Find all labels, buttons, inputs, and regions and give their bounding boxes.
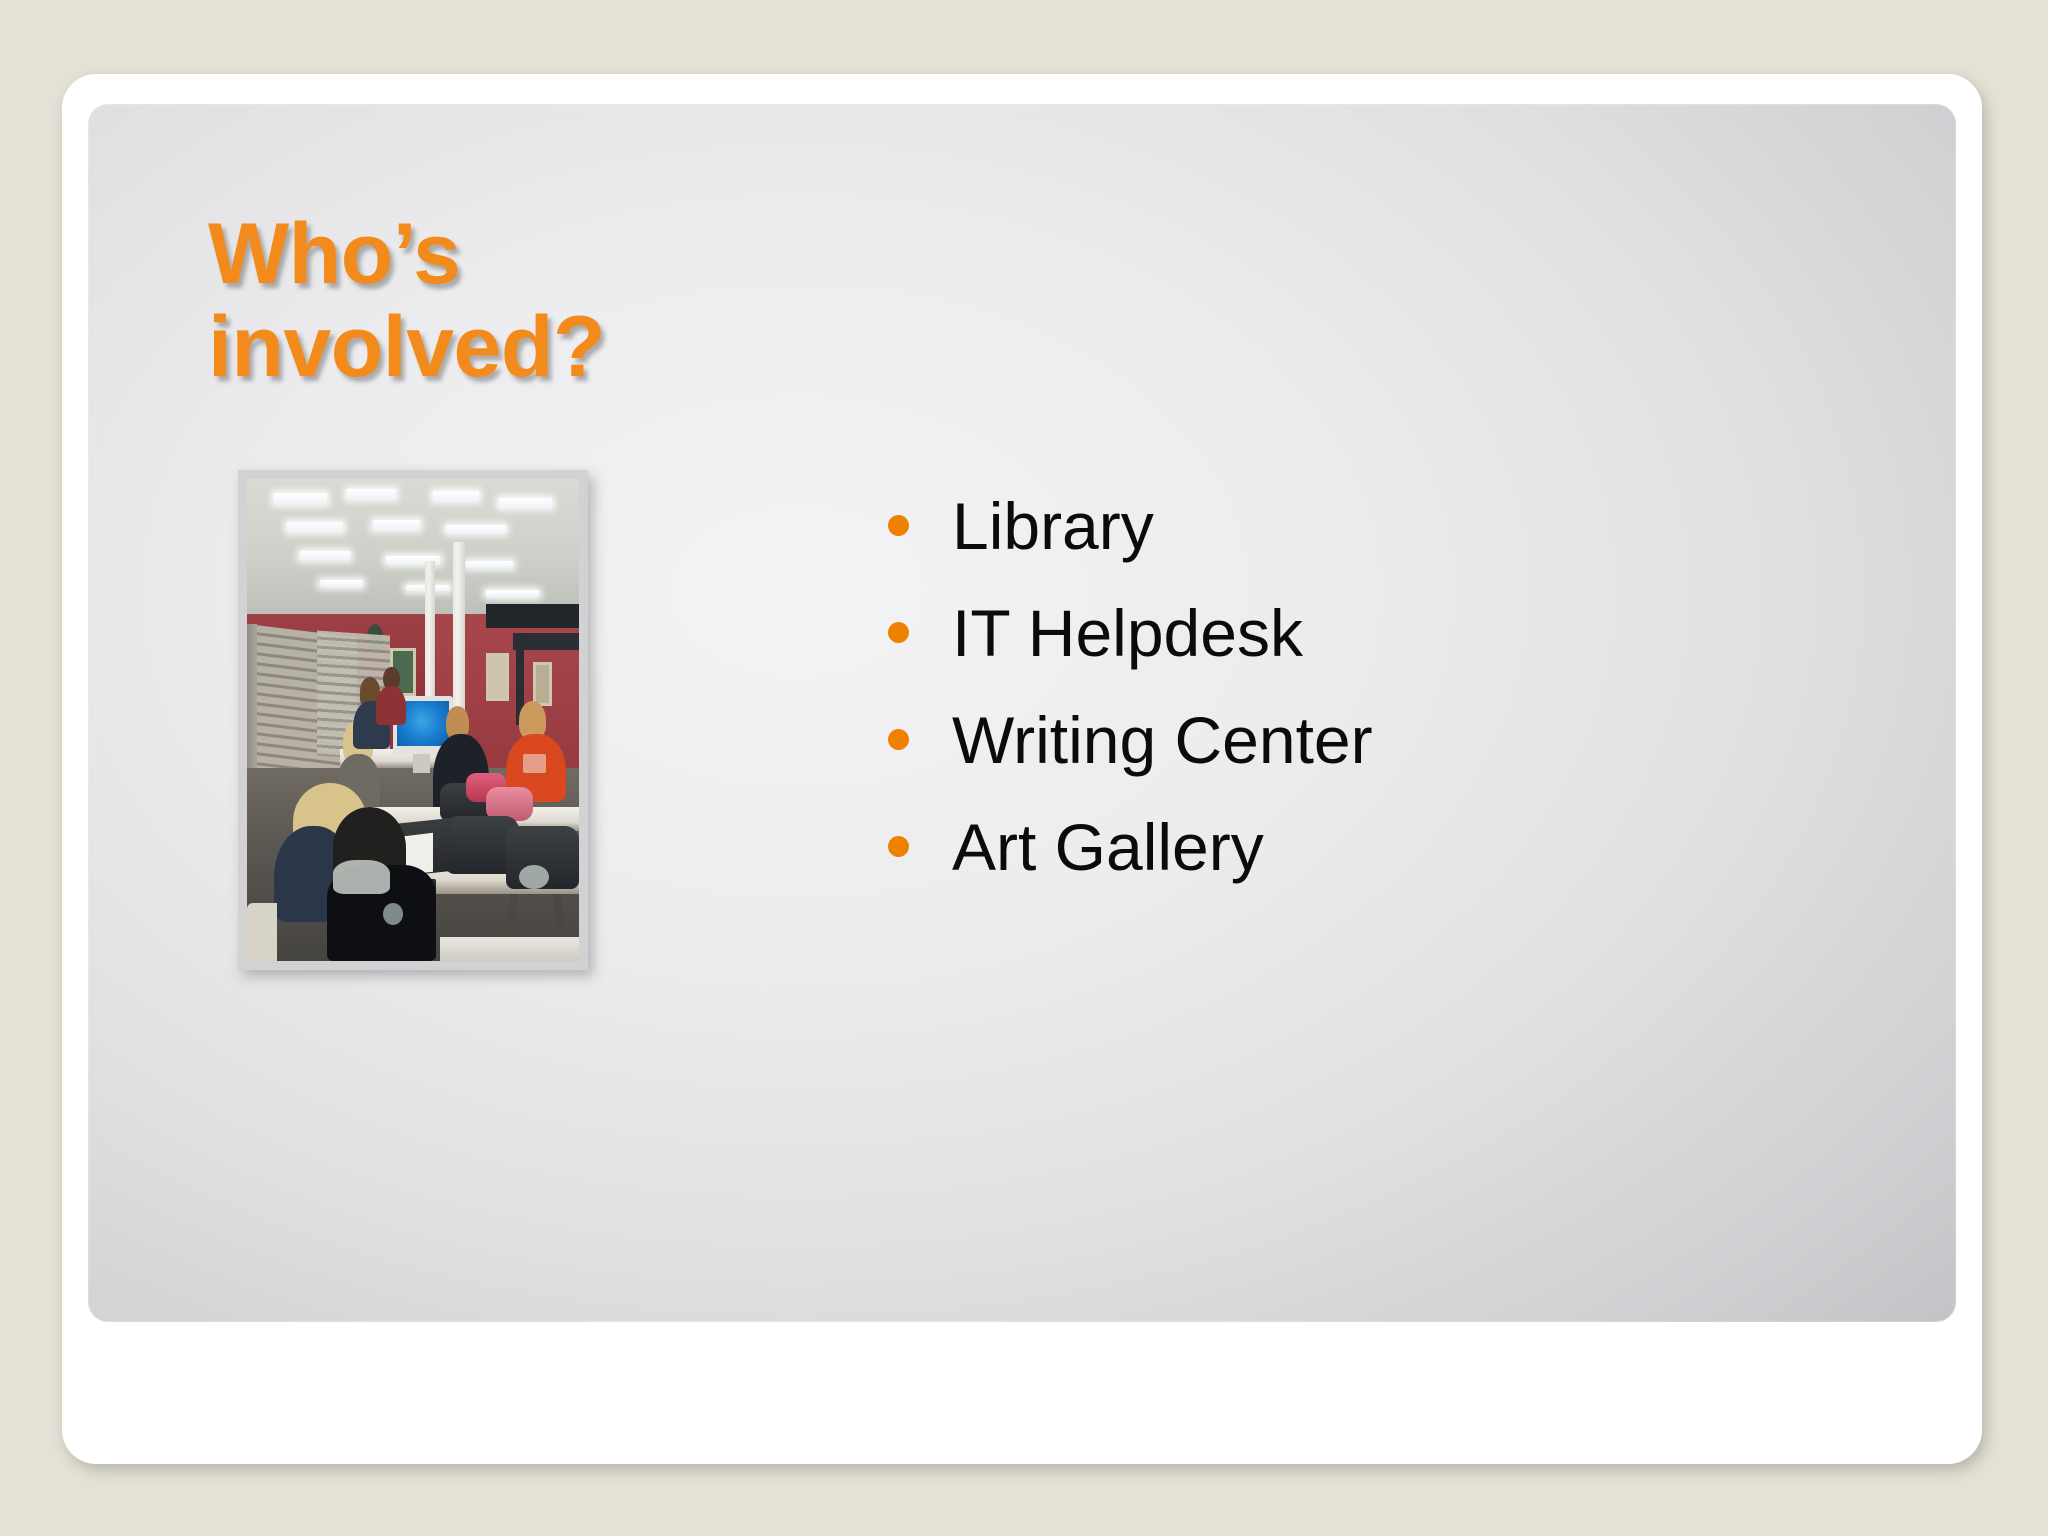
list-item[interactable]: Writing Center	[888, 686, 1848, 793]
photo-ceiling-light	[466, 561, 512, 568]
list-item-label: Writing Center	[952, 707, 1373, 773]
photo-person-scarf	[333, 860, 389, 894]
page-title: Who’s involved?	[208, 208, 828, 394]
bullet-dot-icon	[888, 622, 909, 643]
slide-content-panel: Who’s involved?	[88, 104, 1956, 1322]
bullet-dot-icon	[888, 515, 909, 536]
photo-ceiling-light	[433, 491, 479, 501]
list-item-label: Library	[952, 493, 1154, 559]
photo-bottle	[519, 865, 549, 889]
photo-shirt-graphic	[523, 754, 546, 773]
photo-ceiling-light	[446, 525, 506, 534]
photo-ceiling-light	[486, 590, 539, 597]
bullet-dot-icon	[888, 836, 909, 857]
photo-table	[440, 937, 579, 961]
photo-ceiling-light	[300, 551, 350, 560]
slide-page: Who’s involved?	[0, 0, 2048, 1536]
photo-wall-art	[486, 653, 509, 701]
bullet-list: Library IT Helpdesk Writing Center Art G…	[888, 472, 1848, 900]
list-item-label: Art Gallery	[952, 814, 1264, 880]
photo-ceiling-light	[320, 580, 363, 587]
library-photo	[238, 470, 588, 970]
list-item-label: IT Helpdesk	[952, 600, 1303, 666]
bullet-dot-icon	[888, 729, 909, 750]
list-item[interactable]: Art Gallery	[888, 793, 1848, 900]
photo-ceiling-light	[287, 522, 343, 532]
photo-person-body	[376, 686, 406, 725]
photo-ceiling-beam	[486, 604, 579, 628]
photo-ceiling-light	[347, 489, 397, 500]
photo-ceiling-light	[274, 493, 327, 504]
photo-ceiling-light	[373, 520, 419, 530]
list-item[interactable]: Library	[888, 472, 1848, 579]
photo-ceiling-light	[499, 498, 552, 508]
library-photo-image	[247, 479, 579, 961]
photo-jacket-logo	[383, 903, 403, 925]
photo-chair	[247, 903, 277, 961]
list-item[interactable]: IT Helpdesk	[888, 579, 1848, 686]
photo-monitor-stand	[413, 754, 430, 773]
photo-wall-art	[533, 662, 553, 705]
